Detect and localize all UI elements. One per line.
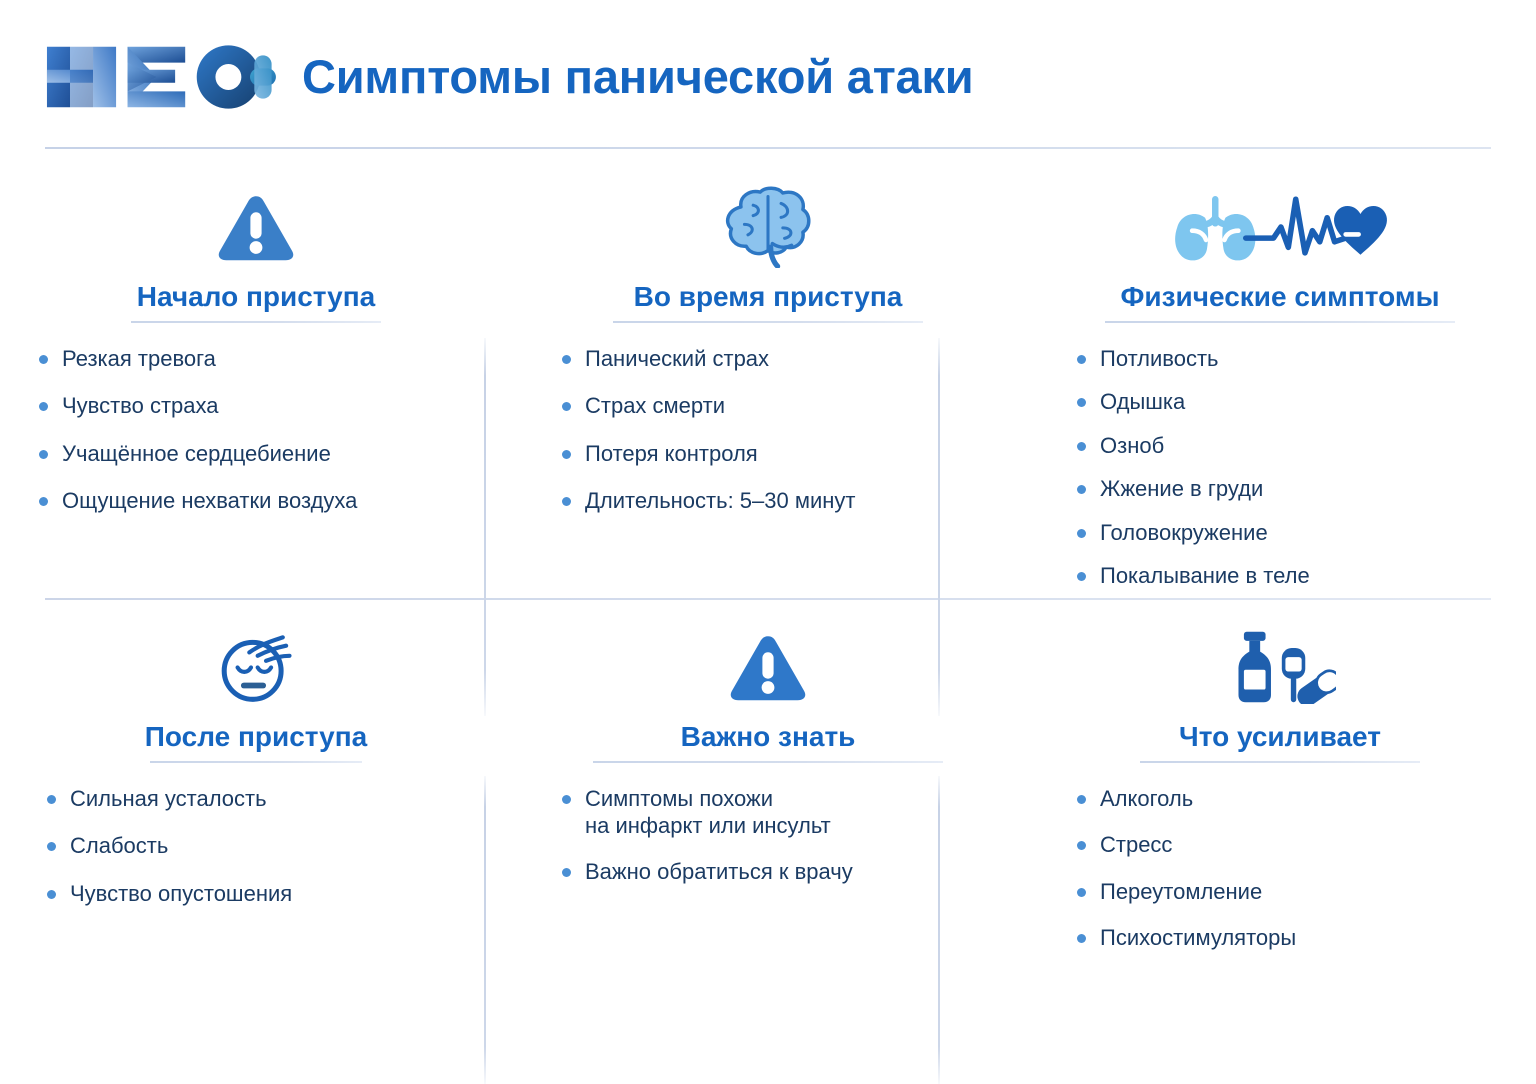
warning-triangle-icon (216, 184, 296, 270)
list-item: Учащённое сердцебиение (39, 440, 503, 468)
list-item: Симптомы похожи на инфаркт или инсульт (562, 785, 1026, 840)
bullet-icon (1077, 529, 1086, 538)
cards-row-top: Начало приступа Резкая тревога Чувство с… (0, 148, 1536, 598)
list-item-label: Сильная усталость (70, 785, 267, 813)
list-item: Чувство опустошения (47, 880, 511, 908)
tired-face-icon (214, 624, 298, 710)
list-item: Панический страх (562, 345, 1026, 373)
title-underline (131, 321, 381, 323)
list-item: Важно обратиться к врачу (562, 858, 1026, 886)
title-underline (613, 321, 923, 323)
bullet-icon (39, 355, 48, 364)
cards-row-bottom: После приступа Сильная усталость Слабост… (0, 600, 1536, 1024)
list-item-label: Чувство страха (62, 392, 219, 420)
list-item: Алкоголь (1077, 785, 1536, 813)
bullet-icon (1077, 398, 1086, 407)
infographic-page: Симптомы панической атаки Начало приступ… (0, 0, 1536, 1024)
cards-grid: Начало приступа Резкая тревога Чувство с… (0, 148, 1536, 1024)
lungs-heartbeat-heart-icon (1164, 184, 1396, 270)
symptom-list: Панический страх Страх смерти Потеря кон… (510, 345, 1026, 535)
list-item-label: Панический страх (585, 345, 769, 373)
list-item: Потливость (1077, 345, 1536, 373)
bullet-icon (562, 497, 571, 506)
list-item-label: Важно обратиться к врачу (585, 858, 853, 886)
list-item-label: Страх смерти (585, 392, 725, 420)
list-item: Озноб (1077, 432, 1536, 460)
symptom-list: Резкая тревога Чувство страха Учащённое … (9, 345, 503, 535)
neo-plus-logo (40, 41, 280, 113)
card-what-aggravates: Что усиливает Алкоголь Стресс (1024, 600, 1536, 1024)
card-during-attack: Во время приступа Панический страх Страх… (512, 148, 1024, 598)
column-divider (484, 776, 486, 1084)
bullet-icon (39, 402, 48, 411)
list-item-label: Головокружение (1100, 519, 1268, 547)
warning-triangle-icon (728, 624, 808, 710)
list-item-label: Переутомление (1100, 878, 1262, 906)
column-divider (938, 338, 940, 716)
list-item-label: Озноб (1100, 432, 1164, 460)
list-item-label: Одышка (1100, 388, 1185, 416)
list-item: Чувство страха (39, 392, 503, 420)
list-item-label: Резкая тревога (62, 345, 216, 373)
list-item: Стресс (1077, 831, 1536, 859)
bullet-icon (562, 868, 571, 877)
card-title: Во время приступа (634, 282, 903, 321)
bullet-icon (47, 842, 56, 851)
list-item-label: Чувство опустошения (70, 880, 292, 908)
list-item-label: Жжение в груди (1100, 475, 1263, 503)
bullet-icon (39, 497, 48, 506)
card-title: Важно знать (681, 722, 856, 761)
list-item: Слабость (47, 832, 511, 860)
bullet-icon (1077, 795, 1086, 804)
bullet-icon (39, 450, 48, 459)
list-item-label: Ощущение нехватки воздуха (62, 487, 357, 515)
bullet-icon (1077, 572, 1086, 581)
list-item: Одышка (1077, 388, 1536, 416)
list-item-label: Слабость (70, 832, 168, 860)
title-underline (1105, 321, 1455, 323)
list-item-label: Длительность: 5–30 минут (585, 487, 856, 515)
list-item: Ощущение нехватки воздуха (39, 487, 503, 515)
list-item: Жжение в груди (1077, 475, 1536, 503)
bullet-icon (47, 890, 56, 899)
card-physical-symptoms: Физические симптомы Потливость Одышка (1024, 148, 1536, 598)
bullet-icon (1077, 355, 1086, 364)
list-item-label: Потливость (1100, 345, 1219, 373)
list-item: Сильная усталость (47, 785, 511, 813)
title-underline (150, 761, 362, 763)
bullet-icon (562, 402, 571, 411)
list-item: Длительность: 5–30 минут (562, 487, 1026, 515)
list-item: Покалывание в теле (1077, 562, 1536, 590)
symptom-list: Симптомы похожи на инфаркт или инсульт В… (510, 785, 1026, 904)
card-attack-onset: Начало приступа Резкая тревога Чувство с… (0, 148, 512, 598)
bullet-icon (1077, 934, 1086, 943)
list-item-label: Покалывание в теле (1100, 562, 1310, 590)
bullet-icon (47, 795, 56, 804)
page-title: Симптомы панической атаки (302, 49, 973, 104)
list-item: Психостимуляторы (1077, 924, 1536, 952)
symptom-list: Сильная усталость Слабость Чувство опуст… (1, 785, 511, 928)
card-after-attack: После приступа Сильная усталость Слабост… (0, 600, 512, 1024)
list-item-label: Симптомы похожи на инфаркт или инсульт (585, 785, 831, 840)
brain-icon (720, 184, 816, 270)
list-item: Головокружение (1077, 519, 1536, 547)
bullet-icon (1077, 442, 1086, 451)
bullet-icon (1077, 485, 1086, 494)
list-item: Переутомление (1077, 878, 1536, 906)
page-header: Симптомы панической атаки (0, 0, 1536, 148)
bullet-icon (562, 450, 571, 459)
title-underline (593, 761, 943, 763)
card-title: Физические симптомы (1121, 282, 1440, 321)
card-title: После приступа (145, 722, 367, 761)
bullet-icon (1077, 841, 1086, 850)
card-important-to-know: Важно знать Симптомы похожи на инфаркт и… (512, 600, 1024, 1024)
list-item-label: Стресс (1100, 831, 1172, 859)
card-title: Начало приступа (137, 282, 376, 321)
symptom-list: Потливость Одышка Озноб Жжение в гр (1019, 345, 1536, 606)
symptom-list: Алкоголь Стресс Переутомление Психо (1019, 785, 1536, 971)
list-item-label: Психостимуляторы (1100, 924, 1296, 952)
title-underline (1140, 761, 1420, 763)
bullet-icon (562, 795, 571, 804)
list-item-label: Потеря контроля (585, 440, 758, 468)
list-item: Резкая тревога (39, 345, 503, 373)
list-item: Потеря контроля (562, 440, 1026, 468)
bottle-pills-icon (1224, 624, 1336, 710)
list-item-label: Учащённое сердцебиение (62, 440, 331, 468)
column-divider (938, 776, 940, 1084)
column-divider (484, 338, 486, 716)
card-title: Что усиливает (1179, 722, 1381, 761)
bullet-icon (1077, 888, 1086, 897)
list-item-label: Алкоголь (1100, 785, 1193, 813)
bullet-icon (562, 355, 571, 364)
list-item: Страх смерти (562, 392, 1026, 420)
